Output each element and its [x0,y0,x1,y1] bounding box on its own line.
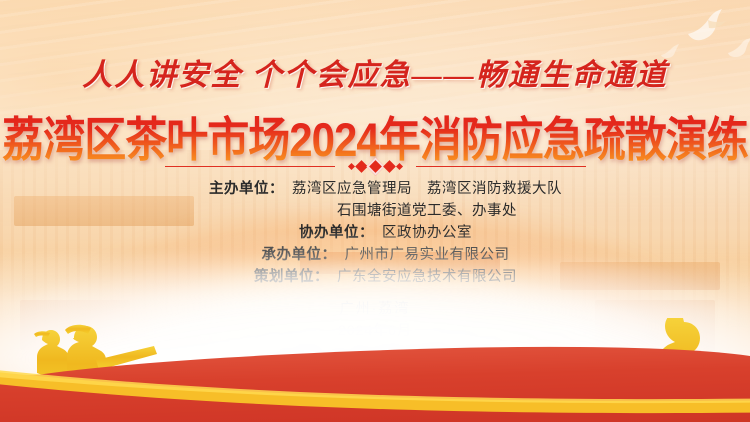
diamond-ornament-icon [349,160,402,173]
organizer-label: 主办单位： [188,178,284,200]
organizer-row-host-continued: 主办单位： 石围塘街道党工委、办事处 [0,200,750,222]
organizer-value: 石围塘街道党工委、办事处 [329,200,517,222]
poster-canvas: 人人讲安全 个个会应急——畅通生命通道 荔湾区茶叶市场2024年消防应急疏散演练… [0,0,750,422]
organizer-value: 荔湾区应急管理局 荔湾区消防救援大队 [284,178,562,200]
organizer-row-host: 主办单位： 荔湾区应急管理局 荔湾区消防救援大队 [0,178,750,200]
divider-line-right [416,166,586,168]
poster-slogan: 人人讲安全 个个会应急——畅通生命通道 [0,50,750,94]
divider-line-left [165,166,335,168]
decorative-divider [0,160,750,173]
dove-icon [684,8,730,42]
